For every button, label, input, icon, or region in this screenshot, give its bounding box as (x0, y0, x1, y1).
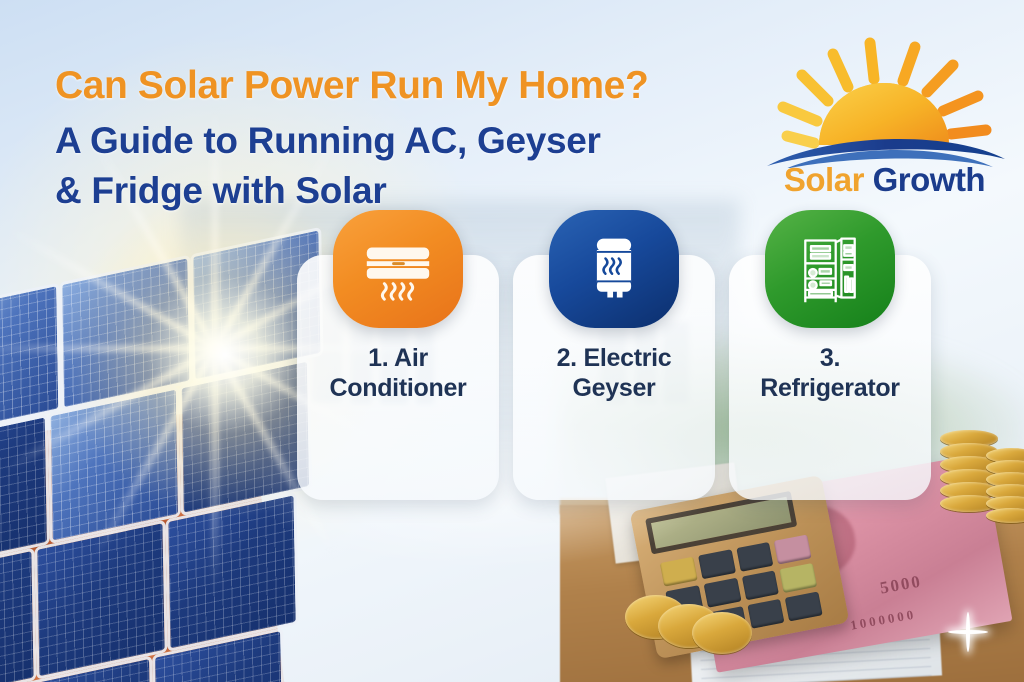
headline-line-2: A Guide to Running AC, Geyser (55, 116, 795, 166)
feature-card-label: 1. Air Conditioner (291, 343, 506, 403)
brand-logo[interactable]: Solar Growth (757, 33, 1012, 213)
feature-card-air-conditioner[interactable]: 1. Air Conditioner (297, 255, 499, 500)
air-conditioner-icon (333, 210, 463, 328)
banner-canvas: 5000000 5000 1000000 (0, 0, 1024, 682)
logo-wordmark: Solar Growth (757, 161, 1012, 199)
feature-card-refrigerator[interactable]: 3. Refrigerator (729, 255, 931, 500)
card-label-line-1: 1. Air (291, 343, 506, 373)
feature-card-label: 3. Refrigerator (723, 343, 938, 403)
logo-word-solar: Solar (784, 161, 864, 198)
feature-card-electric-geyser[interactable]: 2. Electric Geyser (513, 255, 715, 500)
card-label-line-2: Refrigerator (723, 373, 938, 403)
card-label-line-1: 2. Electric (507, 343, 722, 373)
card-label-line-1: 3. (723, 343, 938, 373)
headline-block: Can Solar Power Run My Home? A Guide to … (55, 62, 795, 216)
refrigerator-icon (765, 210, 895, 328)
feature-card-label: 2. Electric Geyser (507, 343, 722, 403)
headline-line-1: Can Solar Power Run My Home? (55, 62, 795, 109)
card-label-line-2: Geyser (507, 373, 722, 403)
logo-word-growth: Growth (873, 161, 985, 198)
headline-line-3: & Fridge with Solar (55, 166, 795, 216)
water-heater-geyser-icon (549, 210, 679, 328)
feature-card-row: 1. Air Conditioner (297, 255, 933, 500)
card-label-line-2: Conditioner (291, 373, 506, 403)
sunrise-over-water-icon (757, 33, 1012, 168)
